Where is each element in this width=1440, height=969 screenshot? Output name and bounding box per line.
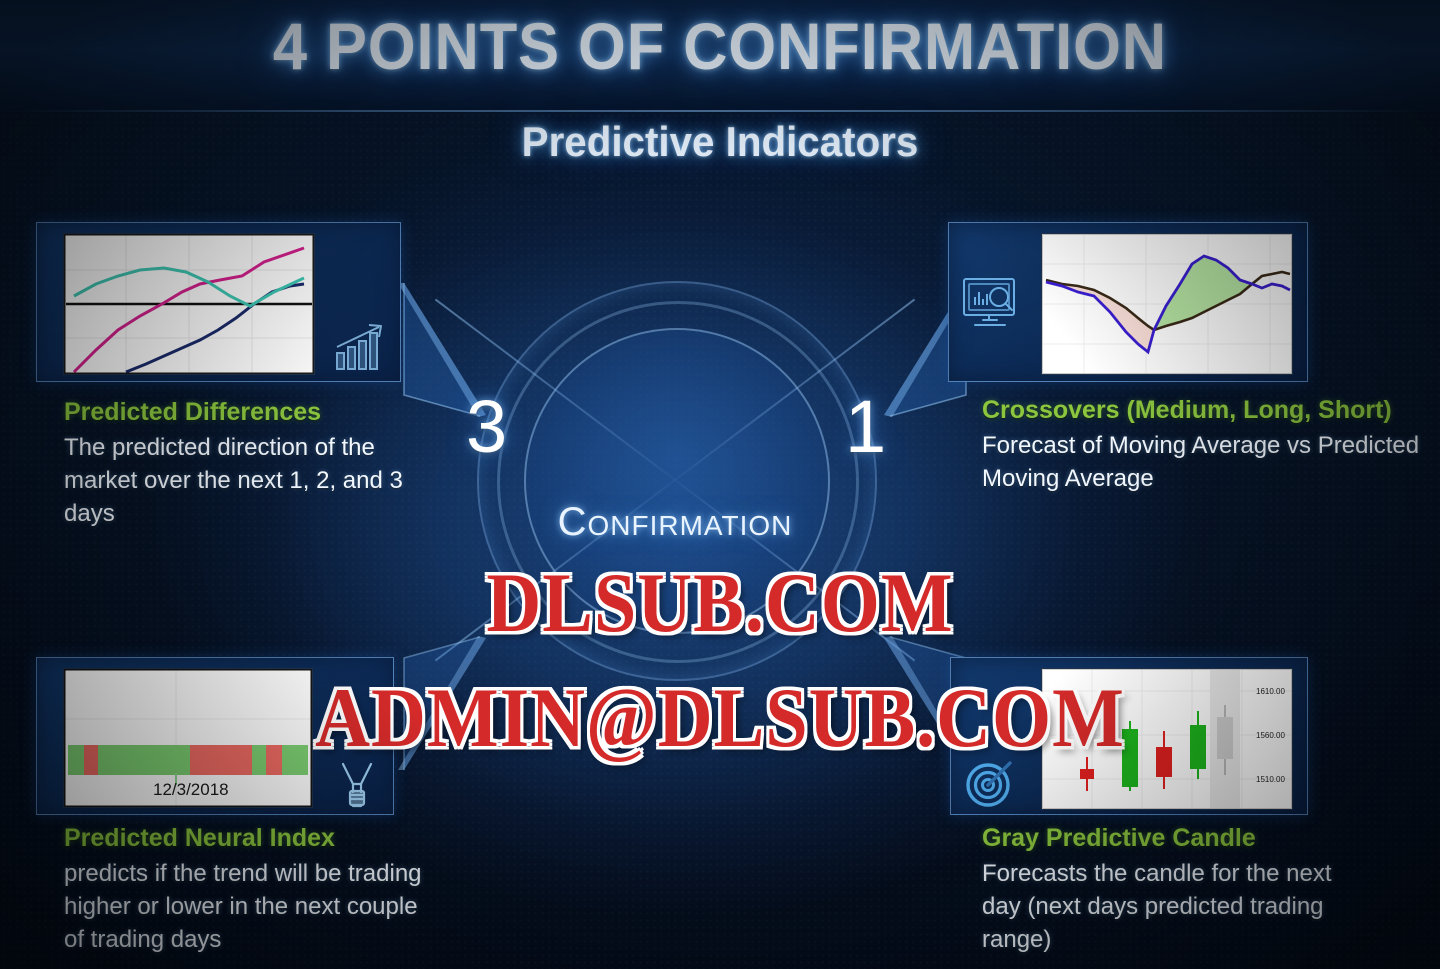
crossovers-chart xyxy=(1041,233,1293,375)
confirmation-label: CONFIRMATION xyxy=(455,500,895,545)
page-subtitle: Predictive Indicators xyxy=(29,118,1411,166)
lightbulb-icon xyxy=(333,760,381,812)
monitor-analytics-icon xyxy=(961,275,1023,333)
caption-body-predicted-neural-index: predicts if the trend will be trading hi… xyxy=(64,857,424,956)
confirmation-initial: C xyxy=(558,500,588,544)
caption-body-predicted-differences: The predicted direction of the market ov… xyxy=(64,431,404,530)
caption-title-crossovers: Crossovers (Medium, Long, Short) xyxy=(982,396,1432,425)
neural-index-date-label: 12/3/2018 xyxy=(153,780,229,800)
caption-title-predicted-differences: Predicted Differences xyxy=(64,398,404,427)
caption-gray-predictive-candle: Gray Predictive Candle Forecasts the can… xyxy=(982,824,1362,956)
confirmation-rest: ONFIRMATION xyxy=(587,510,792,541)
growth-bar-chart-icon xyxy=(333,321,389,373)
card-crossovers-panel[interactable] xyxy=(948,222,1308,382)
svg-text:1560.00: 1560.00 xyxy=(1256,731,1285,740)
caption-title-predicted-neural-index: Predicted Neural Index xyxy=(64,824,424,853)
watermark-email: ADMIN@DLSUB.COM xyxy=(315,670,1125,767)
page-title: 4 POINTS OF CONFIRMATION xyxy=(50,8,1389,84)
neural-index-bars xyxy=(68,745,308,775)
watermark-site: DLSUB.COM xyxy=(486,555,953,652)
header-band: 4 POINTS OF CONFIRMATION xyxy=(0,0,1440,112)
predicted-differences-chart xyxy=(63,233,315,375)
card-predicted-differences-panel[interactable] xyxy=(36,222,401,382)
caption-predicted-differences: Predicted Differences The predicted dire… xyxy=(64,398,404,530)
caption-crossovers: Crossovers (Medium, Long, Short) Forecas… xyxy=(982,396,1432,495)
caption-body-crossovers: Forecast of Moving Average vs Predicted … xyxy=(982,429,1432,495)
caption-body-gray-predictive-candle: Forecasts the candle for the next day (n… xyxy=(982,857,1362,956)
caption-title-gray-predictive-candle: Gray Predictive Candle xyxy=(982,824,1362,853)
step-number-3: 3 xyxy=(466,390,507,464)
svg-text:1510.00: 1510.00 xyxy=(1256,775,1285,784)
step-number-1: 1 xyxy=(845,390,886,464)
svg-text:1610.00: 1610.00 xyxy=(1256,687,1285,696)
infographic-slide: 4 POINTS OF CONFIRMATION Predictive Indi… xyxy=(0,0,1440,969)
caption-predicted-neural-index: Predicted Neural Index predicts if the t… xyxy=(64,824,424,956)
